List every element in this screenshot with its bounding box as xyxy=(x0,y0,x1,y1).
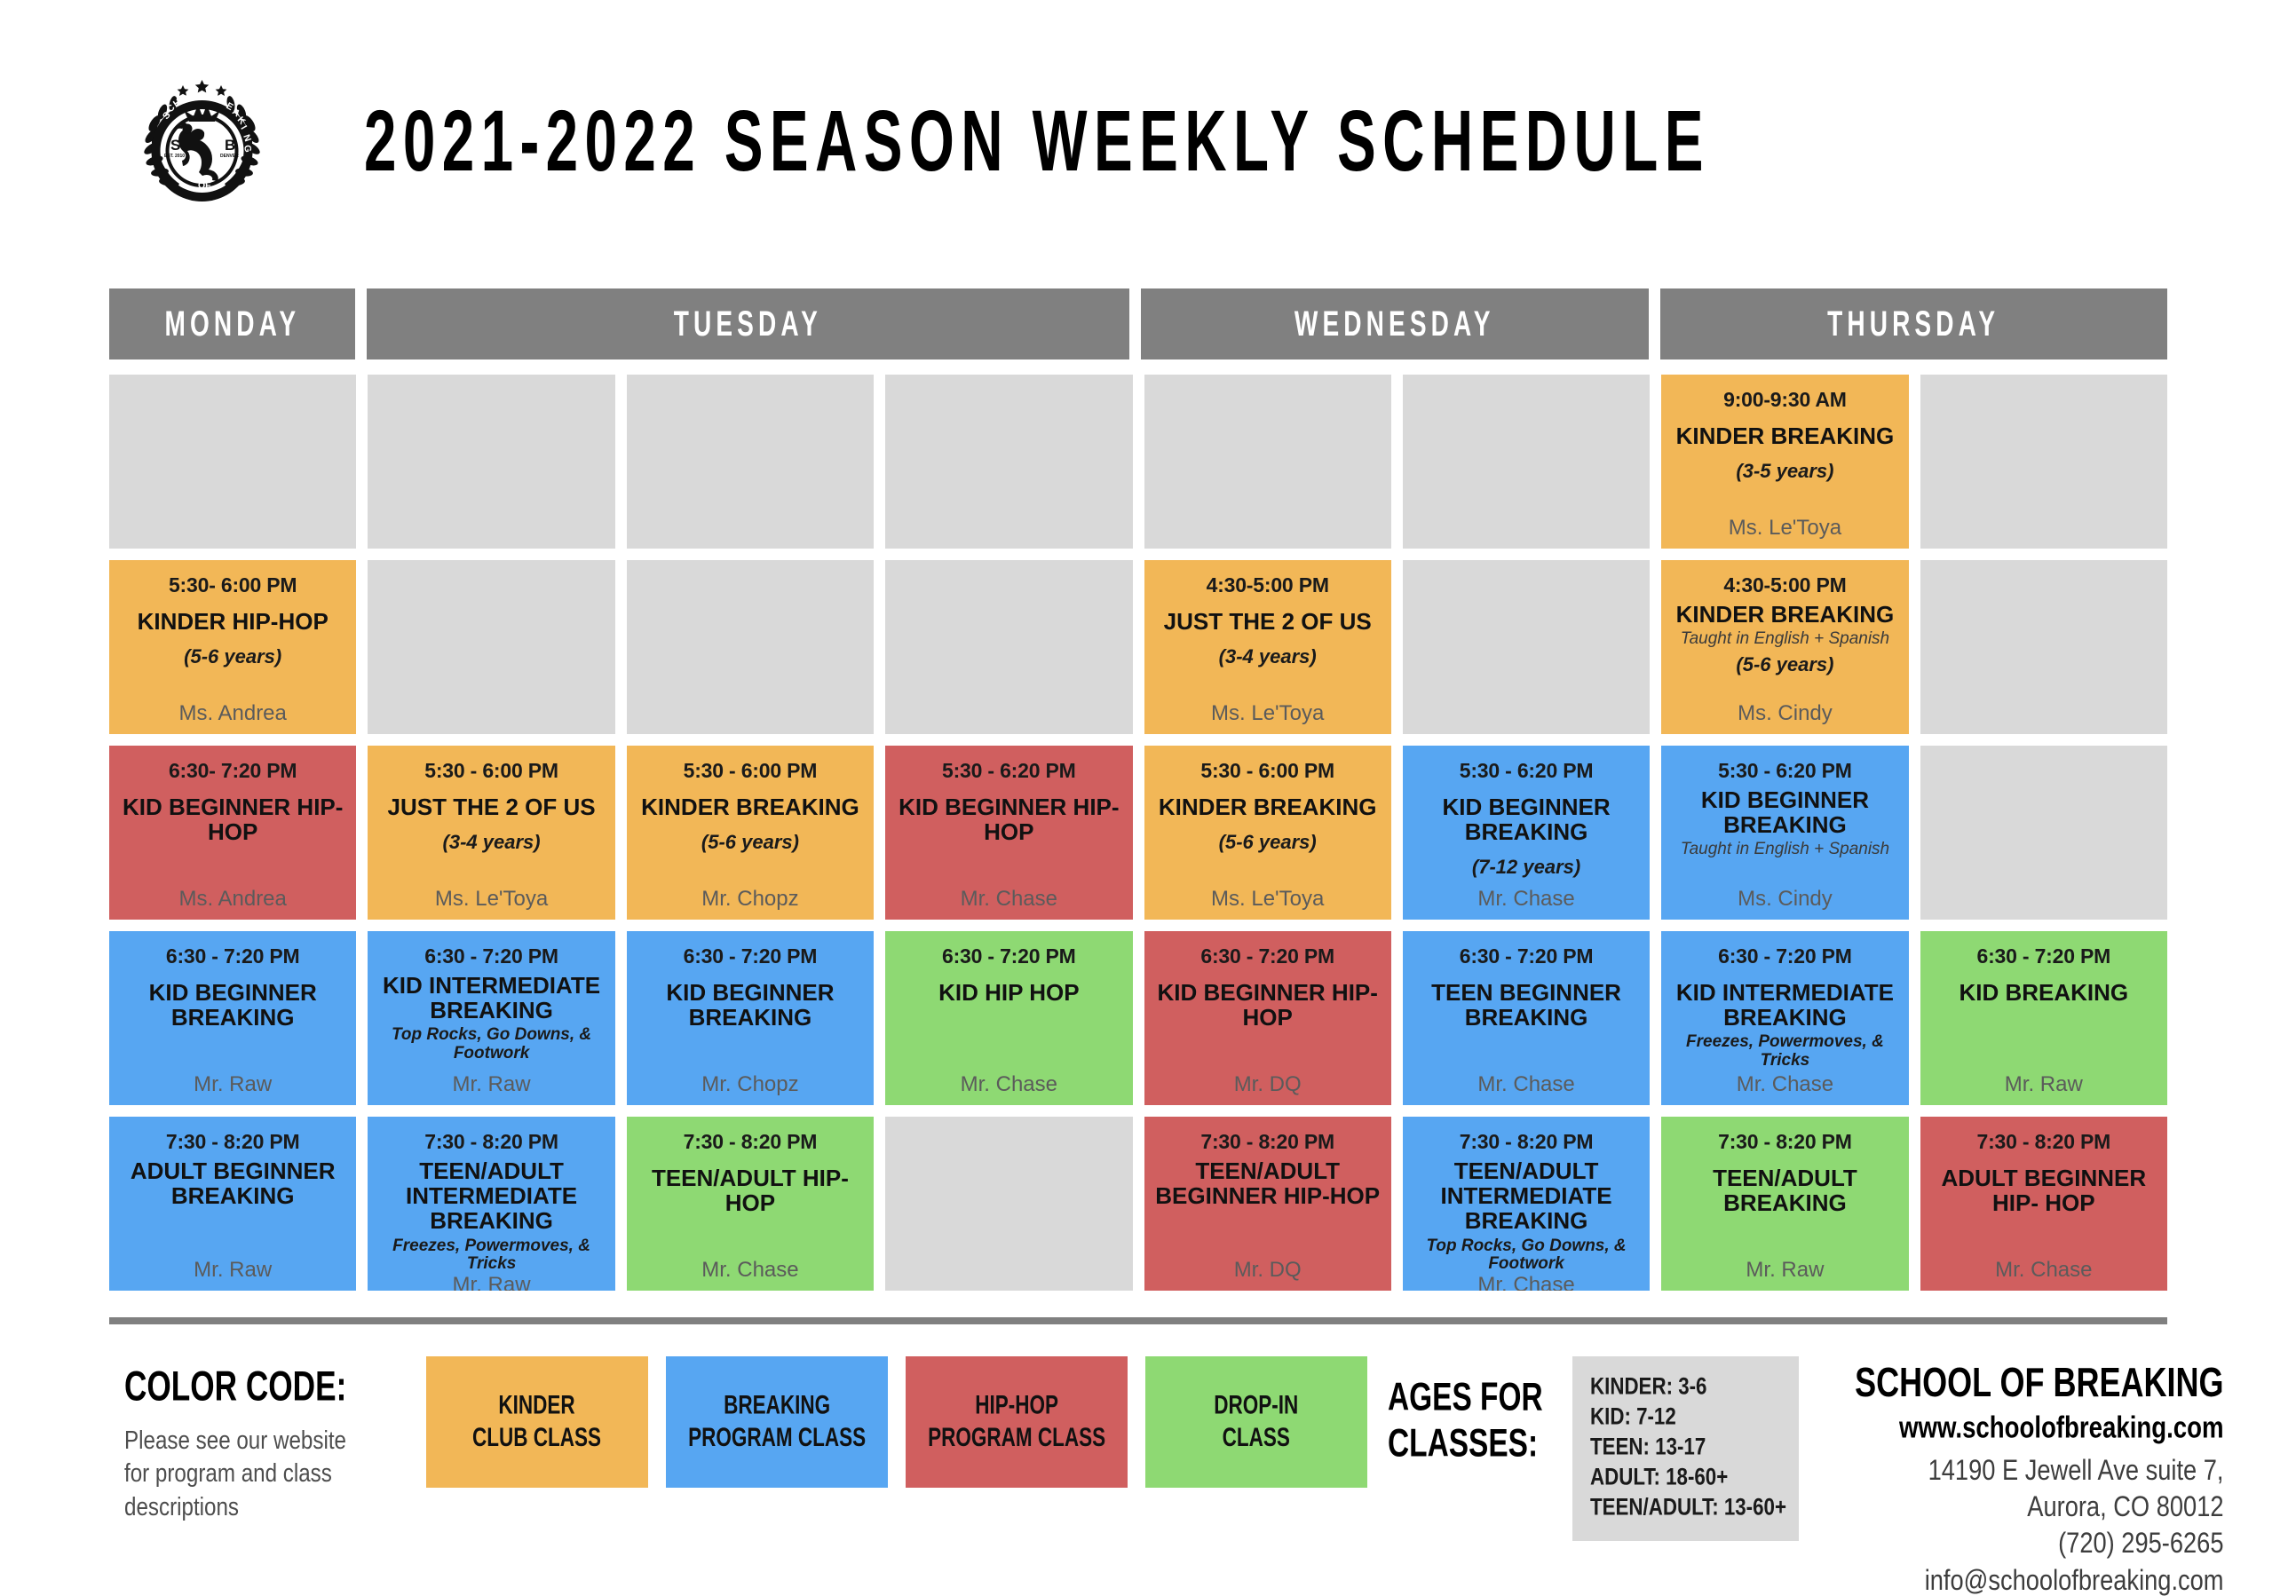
class-card[interactable]: 6:30 - 7:20 PMKID BEGINNER BREAKINGMr. C… xyxy=(627,931,874,1105)
class-instructor: Mr. DQ xyxy=(1234,1259,1302,1282)
day-label: THURSDAY xyxy=(1827,304,1999,344)
class-time: 7:30 - 8:20 PM xyxy=(424,1131,558,1153)
empty-slot xyxy=(368,375,614,549)
ages-for-classes-block: AGES FORCLASSES: KINDER: 3-6KID: 7-12TEE… xyxy=(1388,1356,1814,1541)
class-name: KINDER BREAKING xyxy=(1676,602,1895,627)
class-time: 6:30 - 7:20 PM xyxy=(1460,945,1594,968)
class-time: 6:30 - 7:20 PM xyxy=(1718,945,1852,968)
class-card[interactable]: 7:30 - 8:20 PMTEEN/ADULT HIP-HOPMr. Chas… xyxy=(627,1117,874,1291)
class-instructor: Ms. Le'Toya xyxy=(1211,888,1324,911)
class-name: KID BEGINNER HIP-HOP xyxy=(1152,980,1384,1030)
day-label: MONDAY xyxy=(164,304,300,344)
class-time: 7:30 - 8:20 PM xyxy=(1977,1131,2111,1153)
ages-list-box: KINDER: 3-6KID: 7-12TEEN: 13-17ADULT: 18… xyxy=(1572,1356,1799,1541)
class-instructor: Mr. Raw xyxy=(1746,1259,1824,1282)
class-name: KID BEGINNER BREAKING xyxy=(1410,794,1643,844)
class-time: 5:30- 6:00 PM xyxy=(169,574,297,597)
class-name: KINDER HIP-HOP xyxy=(138,609,329,634)
class-instructor: Mr. Chopz xyxy=(701,1073,798,1096)
class-card[interactable]: 7:30 - 8:20 PMTEEN/ADULT INTERMEDIATE BR… xyxy=(368,1117,614,1291)
class-name: TEEN BEGINNER BREAKING xyxy=(1410,980,1643,1030)
class-time: 6:30 - 7:20 PM xyxy=(1200,945,1334,968)
class-instructor: Mr. Chopz xyxy=(701,888,798,911)
svg-text:EST. 2010: EST. 2010 xyxy=(164,154,185,159)
class-instructor: Mr. Chase xyxy=(961,888,1057,911)
empty-slot xyxy=(885,560,1132,734)
class-instructor: Mr. Chase xyxy=(961,1073,1057,1096)
class-name: KID BEGINNER BREAKING xyxy=(634,980,867,1030)
class-card[interactable]: 4:30-5:00 PMJUST THE 2 OF US(3-4 years)M… xyxy=(1144,560,1391,734)
class-instructor: Mr. Chase xyxy=(1477,1274,1574,1291)
class-card[interactable]: 7:30 - 8:20 PMTEEN/ADULT BREAKINGMr. Raw xyxy=(1661,1117,1908,1291)
class-time: 5:30 - 6:20 PM xyxy=(1460,760,1594,782)
color-code-title: COLOR CODE: xyxy=(124,1365,382,1407)
class-instructor: Ms. Le'Toya xyxy=(1729,517,1841,540)
class-card[interactable]: 6:30 - 7:20 PMKID BREAKINGMr. Raw xyxy=(1920,931,2167,1105)
class-card[interactable]: 6:30 - 7:20 PMKID INTERMEDIATE BREAKINGF… xyxy=(1661,931,1908,1105)
class-name: KID BEGINNER HIP-HOP xyxy=(892,794,1125,844)
empty-slot xyxy=(1144,375,1391,549)
class-name: KID BREAKING xyxy=(1959,980,2128,1005)
empty-slot xyxy=(1920,560,2167,734)
ages-title: AGES FORCLASSES: xyxy=(1388,1356,1543,1467)
age-range-line: ADULT: 18-60+ xyxy=(1590,1462,1770,1495)
class-age-range: (3-4 years) xyxy=(443,832,541,853)
svg-text:L: L xyxy=(199,91,206,102)
class-instructor: Ms. Cindy xyxy=(1738,702,1833,725)
class-card[interactable]: 5:30 - 6:20 PMKID BEGINNER HIP-HOPMr. Ch… xyxy=(885,746,1132,920)
class-name: TEEN/ADULT BREAKING xyxy=(1668,1165,1901,1215)
class-name: KID BEGINNER HIP-HOP xyxy=(116,794,349,844)
svg-text:OF: OF xyxy=(198,180,211,191)
day-header-wednesday: WEDNESDAY xyxy=(1141,288,1648,359)
class-note: Freezes, Powermoves, & Tricks xyxy=(1668,1033,1901,1071)
class-time: 7:30 - 8:20 PM xyxy=(166,1131,300,1153)
day-header-monday: MONDAY xyxy=(109,288,355,359)
class-name: KID BEGINNER BREAKING xyxy=(1668,787,1901,837)
class-note: Taught in English + Spanish xyxy=(1681,630,1889,649)
class-time: 6:30 - 7:20 PM xyxy=(684,945,818,968)
class-time: 5:30 - 6:20 PM xyxy=(942,760,1076,782)
day-header-row: MONDAY TUESDAY WEDNESDAY THURSDAY xyxy=(109,288,2167,359)
class-name: JUST THE 2 OF US xyxy=(1164,609,1372,634)
legend-swatch-breaking: BREAKINGPROGRAM CLASS xyxy=(666,1356,888,1488)
legend-label: KINDERCLUB CLASS xyxy=(472,1389,601,1455)
contact-block: SCHOOL OF BREAKING www.schoolofbreaking.… xyxy=(1814,1356,2224,1596)
phone-number[interactable]: (720) 295-6265 xyxy=(1839,1524,2224,1565)
class-name: KID INTERMEDIATE BREAKING xyxy=(375,973,607,1023)
legend-swatch-dropin: DROP-INCLASS xyxy=(1145,1356,1367,1488)
class-age-range: (5-6 years) xyxy=(701,832,799,853)
empty-slot xyxy=(1403,375,1650,549)
class-time: 5:30 - 6:00 PM xyxy=(424,760,558,782)
poster-header: S B EST. 2010 DENVER S C H O O L B R E A… xyxy=(0,0,2296,240)
class-card[interactable]: 6:30 - 7:20 PMKID HIP HOPMr. Chase xyxy=(885,931,1132,1105)
class-card[interactable]: 7:30 - 8:20 PMADULT BEGINNER HIP- HOPMr.… xyxy=(1920,1117,2167,1291)
svg-text:O: O xyxy=(189,91,199,103)
empty-slot xyxy=(109,375,356,549)
age-range-line: TEEN/ADULT: 13-60+ xyxy=(1590,1492,1770,1525)
empty-slot xyxy=(885,1117,1132,1291)
class-card[interactable]: 5:30- 6:00 PMKINDER HIP-HOP(5-6 years)Ms… xyxy=(109,560,356,734)
class-card[interactable]: 5:30 - 6:00 PMJUST THE 2 OF US(3-4 years… xyxy=(368,746,614,920)
class-note: Freezes, Powermoves, & Tricks xyxy=(375,1237,607,1275)
day-header-tuesday: TUESDAY xyxy=(367,288,1129,359)
class-instructor: Mr. Chase xyxy=(701,1259,798,1282)
email-address[interactable]: info@schoolofbreaking.com xyxy=(1839,1560,2224,1596)
class-time: 6:30- 7:20 PM xyxy=(169,760,297,782)
class-time: 7:30 - 8:20 PM xyxy=(1718,1131,1852,1153)
empty-slot xyxy=(885,375,1132,549)
class-time: 9:00-9:30 AM xyxy=(1723,389,1847,411)
empty-slot xyxy=(1920,746,2167,920)
website-link[interactable]: www.schoolofbreaking.com xyxy=(1847,1411,2224,1445)
class-time: 6:30 - 7:20 PM xyxy=(424,945,558,968)
age-range-line: KINDER: 3-6 xyxy=(1590,1371,1770,1403)
age-range-line: KID: 7-12 xyxy=(1590,1401,1770,1434)
class-instructor: Mr. DQ xyxy=(1234,1073,1302,1096)
class-name: KINDER BREAKING xyxy=(1676,423,1895,448)
class-time: 6:30 - 7:20 PM xyxy=(166,945,300,968)
color-code-block: COLOR CODE: Please see our website for p… xyxy=(124,1356,417,1513)
class-note: Taught in English + Spanish xyxy=(1681,841,1889,859)
day-header-thursday: THURSDAY xyxy=(1660,288,2167,359)
class-time: 6:30 - 7:20 PM xyxy=(1977,945,2111,968)
class-card[interactable]: 6:30 - 7:20 PMTEEN BEGINNER BREAKINGMr. … xyxy=(1403,931,1650,1105)
class-card[interactable]: 5:30 - 6:20 PMKID BEGINNER BREAKING(7-12… xyxy=(1403,746,1650,920)
class-card[interactable]: 6:30 - 7:20 PMKID INTERMEDIATE BREAKINGT… xyxy=(368,931,614,1105)
class-instructor: Ms. Le'Toya xyxy=(435,888,548,911)
schedule-poster: S B EST. 2010 DENVER S C H O O L B R E A… xyxy=(0,0,2296,1596)
class-name: KINDER BREAKING xyxy=(641,794,859,819)
class-instructor: Ms. Cindy xyxy=(1738,888,1833,911)
class-age-range: (5-6 years) xyxy=(1219,832,1317,853)
legend-label: BREAKINGPROGRAM CLASS xyxy=(688,1389,866,1455)
class-instructor: Mr. Chase xyxy=(1477,888,1574,911)
class-age-range: (5-6 years) xyxy=(184,646,281,668)
day-label: WEDNESDAY xyxy=(1294,304,1495,344)
class-age-range: (7-12 years) xyxy=(1472,857,1580,878)
class-name: KINDER BREAKING xyxy=(1159,794,1377,819)
class-instructor: Mr. Chase xyxy=(1477,1073,1574,1096)
class-name: KID HIP HOP xyxy=(938,980,1079,1005)
class-time: 4:30-5:00 PM xyxy=(1723,574,1846,597)
class-time: 7:30 - 8:20 PM xyxy=(1200,1131,1334,1153)
class-name: TEEN/ADULT BEGINNER HIP-HOP xyxy=(1152,1158,1384,1208)
class-instructor: Mr. Raw xyxy=(2005,1073,2083,1096)
class-age-range: (3-4 years) xyxy=(1219,646,1317,668)
class-time: 6:30 - 7:20 PM xyxy=(942,945,1076,968)
class-instructor: Mr. Chase xyxy=(1995,1259,2092,1282)
class-time: 5:30 - 6:00 PM xyxy=(1200,760,1334,782)
address-line-1: 14190 E Jewell Ave suite 7, xyxy=(1839,1451,2224,1492)
class-instructor: Mr. Raw xyxy=(194,1073,272,1096)
class-instructor: Mr. Raw xyxy=(453,1073,531,1096)
empty-slot xyxy=(1920,375,2167,549)
legend-swatch-kinder: KINDERCLUB CLASS xyxy=(426,1356,648,1488)
class-name: ADULT BEGINNER BREAKING xyxy=(116,1158,349,1208)
class-instructor: Mr. Raw xyxy=(194,1259,272,1282)
school-name: SCHOOL OF BREAKING xyxy=(1855,1360,2223,1405)
class-name: JUST THE 2 OF US xyxy=(388,794,596,819)
address-line-2: Aurora, CO 80012 xyxy=(1839,1488,2224,1529)
class-instructor: Ms. Andrea xyxy=(178,702,286,725)
class-card[interactable]: 7:30 - 8:20 PMADULT BEGINNER BREAKINGMr.… xyxy=(109,1117,356,1291)
class-instructor: Ms. Andrea xyxy=(178,888,286,911)
legend-label: DROP-INCLASS xyxy=(1214,1389,1298,1455)
class-card[interactable]: 5:30 - 6:00 PMKINDER BREAKING(5-6 years)… xyxy=(1144,746,1391,920)
page-title: 2021-2022 SEASON WEEKLY SCHEDULE xyxy=(364,98,1710,185)
class-instructor: Ms. Le'Toya xyxy=(1211,702,1324,725)
poster-footer: COLOR CODE: Please see our website for p… xyxy=(0,1356,2296,1596)
class-card[interactable]: 6:30- 7:20 PMKID BEGINNER HIP-HOPMs. And… xyxy=(109,746,356,920)
empty-slot xyxy=(1403,560,1650,734)
color-legend: KINDERCLUB CLASSBREAKINGPROGRAM CLASSHIP… xyxy=(426,1356,1372,1488)
legend-swatch-hiphop: HIP-HOPPROGRAM CLASS xyxy=(906,1356,1128,1488)
class-time: 5:30 - 6:20 PM xyxy=(1718,760,1852,782)
class-card[interactable]: 5:30 - 6:00 PMKINDER BREAKING(5-6 years)… xyxy=(627,746,874,920)
empty-slot xyxy=(627,375,874,549)
empty-slot xyxy=(368,560,614,734)
class-card[interactable]: 9:00-9:30 AMKINDER BREAKING(3-5 years)Ms… xyxy=(1661,375,1908,549)
svg-text:S: S xyxy=(170,137,180,154)
age-range-line: TEEN: 13-17 xyxy=(1590,1431,1770,1464)
class-name: TEEN/ADULT INTERMEDIATE BREAKING xyxy=(375,1158,607,1233)
class-time: 7:30 - 8:20 PM xyxy=(1460,1131,1594,1153)
class-time: 4:30-5:00 PM xyxy=(1207,574,1329,597)
class-age-range: (3-5 years) xyxy=(1736,461,1833,482)
class-age-range: (5-6 years) xyxy=(1736,654,1833,676)
class-name: TEEN/ADULT INTERMEDIATE BREAKING xyxy=(1410,1158,1643,1233)
svg-text:B: B xyxy=(225,137,235,154)
schedule-grid: 9:00-9:30 AMKINDER BREAKING(3-5 years)Ms… xyxy=(109,375,2167,1291)
class-time: 5:30 - 6:00 PM xyxy=(684,760,818,782)
day-label: TUESDAY xyxy=(674,304,822,344)
class-note: Top Rocks, Go Downs, & Footwork xyxy=(375,1026,607,1063)
legend-label: HIP-HOPPROGRAM CLASS xyxy=(928,1389,1105,1455)
empty-slot xyxy=(627,560,874,734)
svg-text:DENVER: DENVER xyxy=(220,154,239,159)
class-name: KID INTERMEDIATE BREAKING xyxy=(1668,980,1901,1030)
class-name: KID BEGINNER BREAKING xyxy=(116,980,349,1030)
school-of-breaking-crest-icon: S B EST. 2010 DENVER S C H O O L B R E A… xyxy=(129,68,275,215)
class-card[interactable]: 7:30 - 8:20 PMTEEN/ADULT BEGINNER HIP-HO… xyxy=(1144,1117,1391,1291)
class-name: ADULT BEGINNER HIP- HOP xyxy=(1928,1165,2160,1215)
class-card[interactable]: 6:30 - 7:20 PMKID BEGINNER HIP-HOPMr. DQ xyxy=(1144,931,1391,1105)
class-card[interactable]: 4:30-5:00 PMKINDER BREAKINGTaught in Eng… xyxy=(1661,560,1908,734)
class-card[interactable]: 6:30 - 7:20 PMKID BEGINNER BREAKINGMr. R… xyxy=(109,931,356,1105)
class-note: Top Rocks, Go Downs, & Footwork xyxy=(1410,1237,1643,1275)
color-code-subtext: Please see our website for program and c… xyxy=(124,1424,364,1523)
footer-divider xyxy=(109,1317,2167,1324)
class-instructor: Mr. Chase xyxy=(1737,1073,1833,1096)
class-time: 7:30 - 8:20 PM xyxy=(684,1131,818,1153)
class-card[interactable]: 7:30 - 8:20 PMTEEN/ADULT INTERMEDIATE BR… xyxy=(1403,1117,1650,1291)
class-instructor: Mr. Raw xyxy=(453,1274,531,1291)
class-name: TEEN/ADULT HIP-HOP xyxy=(634,1165,867,1215)
class-card[interactable]: 5:30 - 6:20 PMKID BEGINNER BREAKINGTaugh… xyxy=(1661,746,1908,920)
